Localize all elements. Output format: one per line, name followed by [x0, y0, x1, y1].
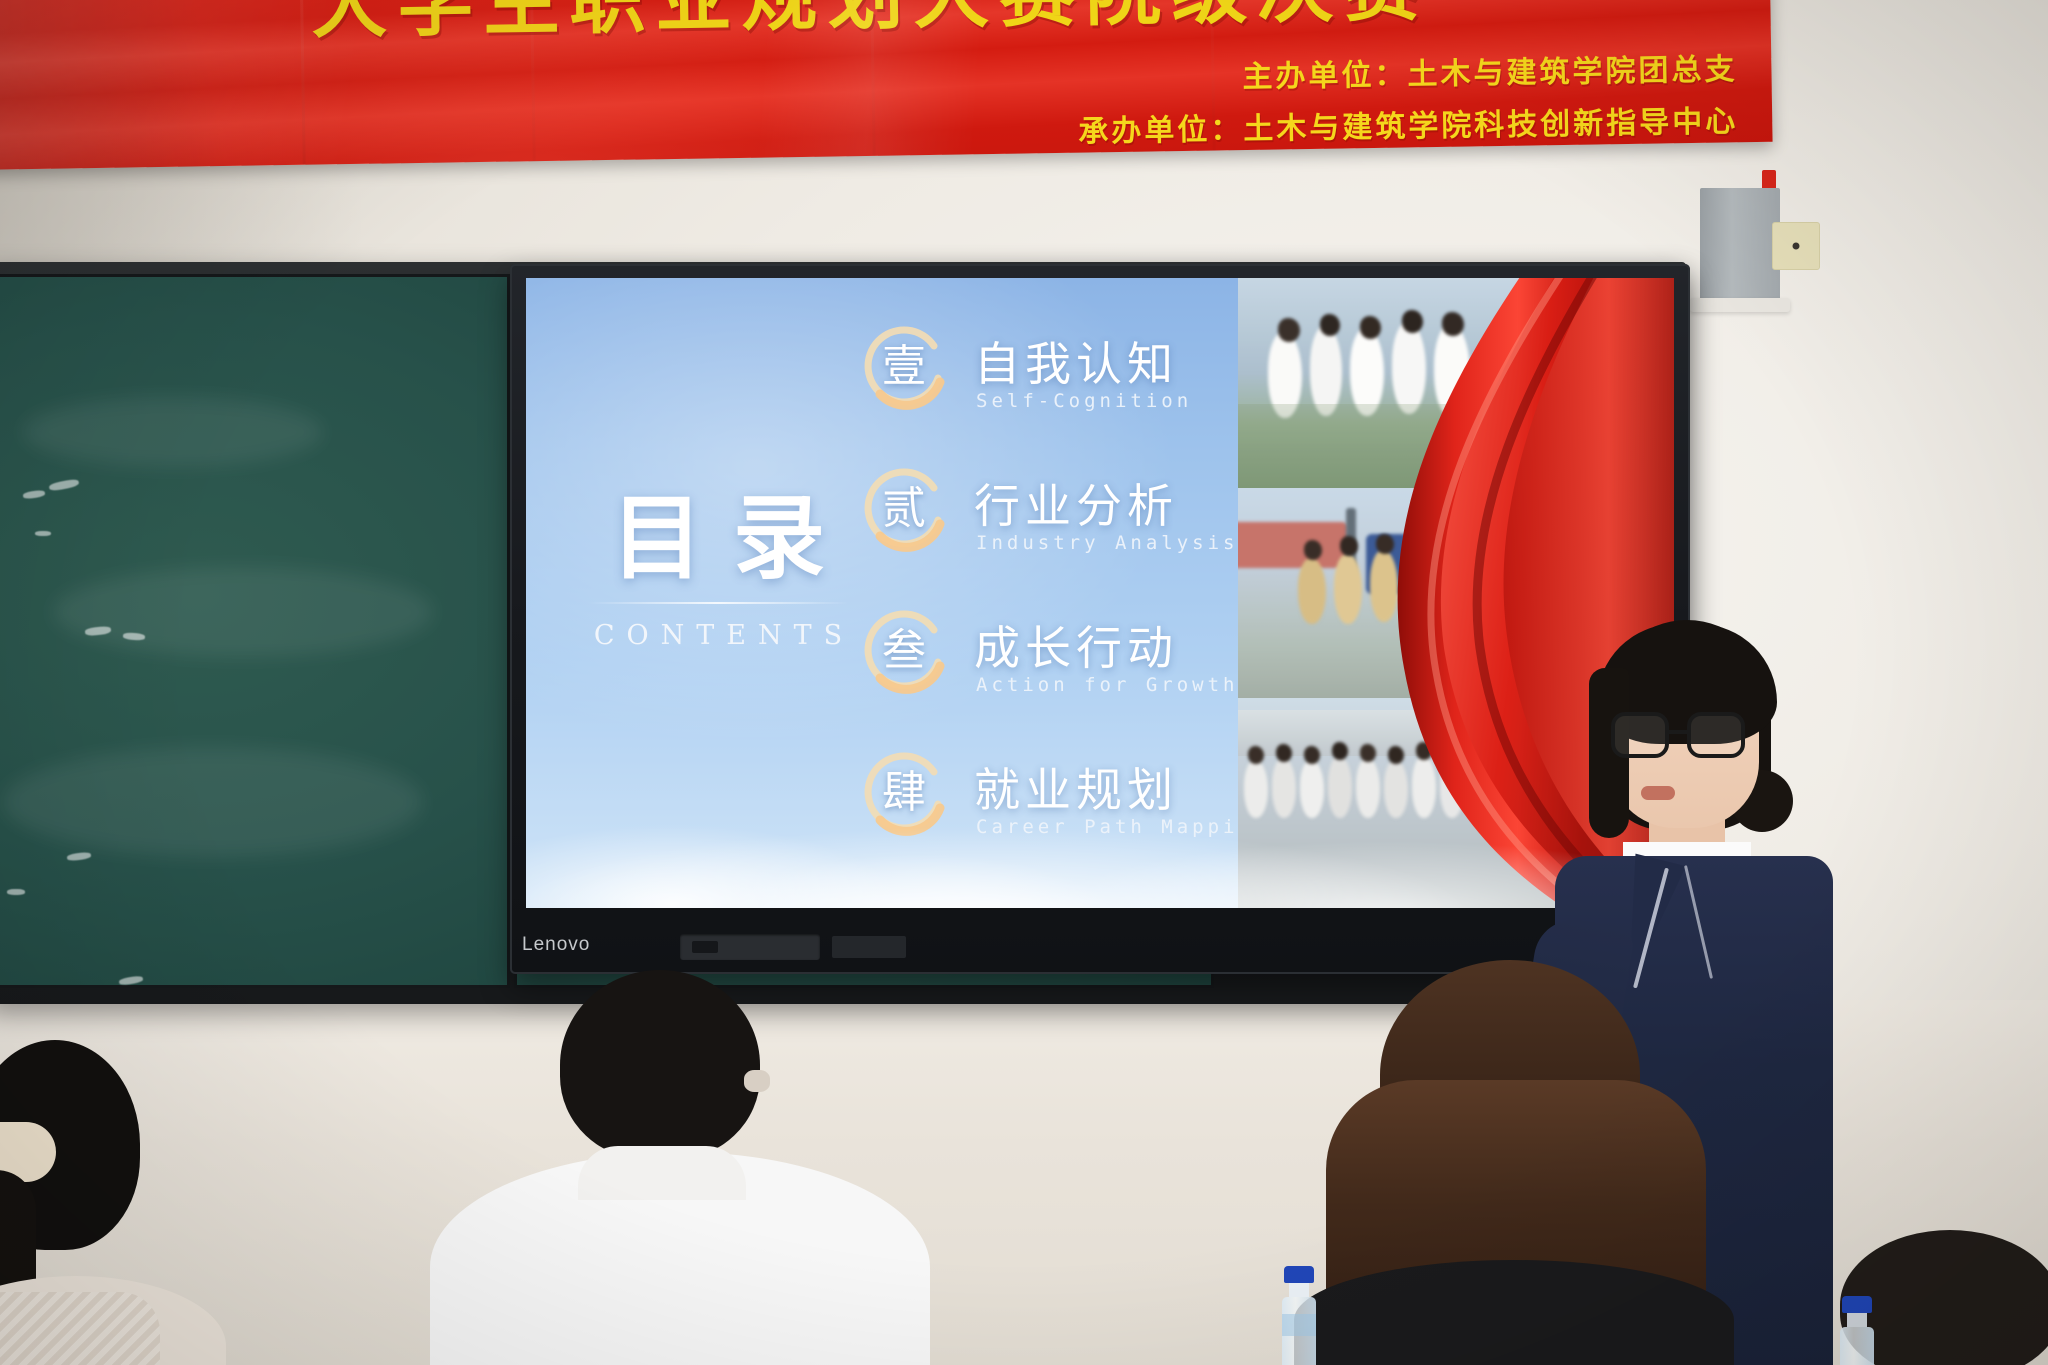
water-bottle[interactable] — [1282, 1266, 1316, 1365]
item-title-cn: 成长行动 — [974, 612, 1178, 678]
item-numeral: 贰 — [856, 456, 952, 552]
projector-mount-bracket — [1700, 188, 1780, 306]
mount-foot — [1690, 298, 1790, 312]
list-item[interactable]: 叁 成长行动 Action for Growth — [856, 598, 1276, 740]
list-item[interactable]: 贰 行业分析 Industry Analysis — [856, 456, 1276, 598]
item-title-en: Action for Growth — [976, 674, 1238, 696]
display-port-cluster[interactable] — [680, 934, 820, 960]
contents-heading-block: 目录 CONTENTS — [568, 492, 868, 651]
classroom-scene: 大学生职业规划大赛院级决赛 主办单位：土木与建筑学院团总支 承办单位：土木与建筑… — [0, 0, 2048, 1365]
list-item — [0, 1040, 260, 1365]
display-port-secondary[interactable] — [832, 936, 906, 958]
contents-heading-en: CONTENTS — [568, 620, 868, 651]
list-item[interactable]: 肆 就业规划 Career Path Mapping — [856, 740, 1276, 882]
chalkboard-panel-left — [0, 274, 510, 988]
smart-display[interactable]: 目录 CONTENTS 壹 自我认知 Sel — [510, 264, 1690, 974]
item-title-cn: 就业规划 — [974, 754, 1178, 820]
item-title-en: Career Path Mapping — [976, 816, 1269, 838]
item-title-cn: 行业分析 — [974, 470, 1178, 536]
item-title-en: Industry Analysis — [976, 532, 1238, 554]
presentation-slide: 目录 CONTENTS 壹 自我认知 Sel — [526, 278, 1674, 908]
item-numeral: 叁 — [856, 598, 952, 694]
item-numeral: 肆 — [856, 740, 952, 836]
list-item[interactable]: 壹 自我认知 Self-Cognition — [856, 314, 1276, 456]
item-numeral: 壹 — [856, 314, 952, 410]
wall-outlet-icon — [1772, 222, 1820, 270]
glasses-icon — [1611, 712, 1751, 758]
item-title-en: Self-Cognition — [976, 390, 1192, 412]
list-item — [500, 970, 870, 1365]
eyeglass-temple — [744, 1070, 770, 1092]
contents-divider — [588, 602, 848, 604]
item-title-cn: 自我认知 — [974, 328, 1178, 394]
banner-host-line: 承办单位：土木与建筑学院科技创新指导中心 — [1078, 96, 1739, 150]
banner-organizer-line: 主办单位：土木与建筑学院团总支 — [1242, 44, 1738, 96]
contents-heading-cn: 目录 — [568, 492, 868, 584]
water-bottle[interactable] — [1840, 1296, 1874, 1365]
lenovo-brand-logo: Lenovo — [522, 934, 590, 956]
contents-item-list: 壹 自我认知 Self-Cognition 贰 行业分析 — [856, 314, 1276, 882]
event-banner: 大学生职业规划大赛院级决赛 主办单位：土木与建筑学院团总支 承办单位：土木与建筑… — [0, 0, 1773, 170]
slide-left-panel: 目录 CONTENTS 壹 自我认知 Sel — [526, 278, 1238, 908]
list-item — [1300, 960, 1730, 1365]
